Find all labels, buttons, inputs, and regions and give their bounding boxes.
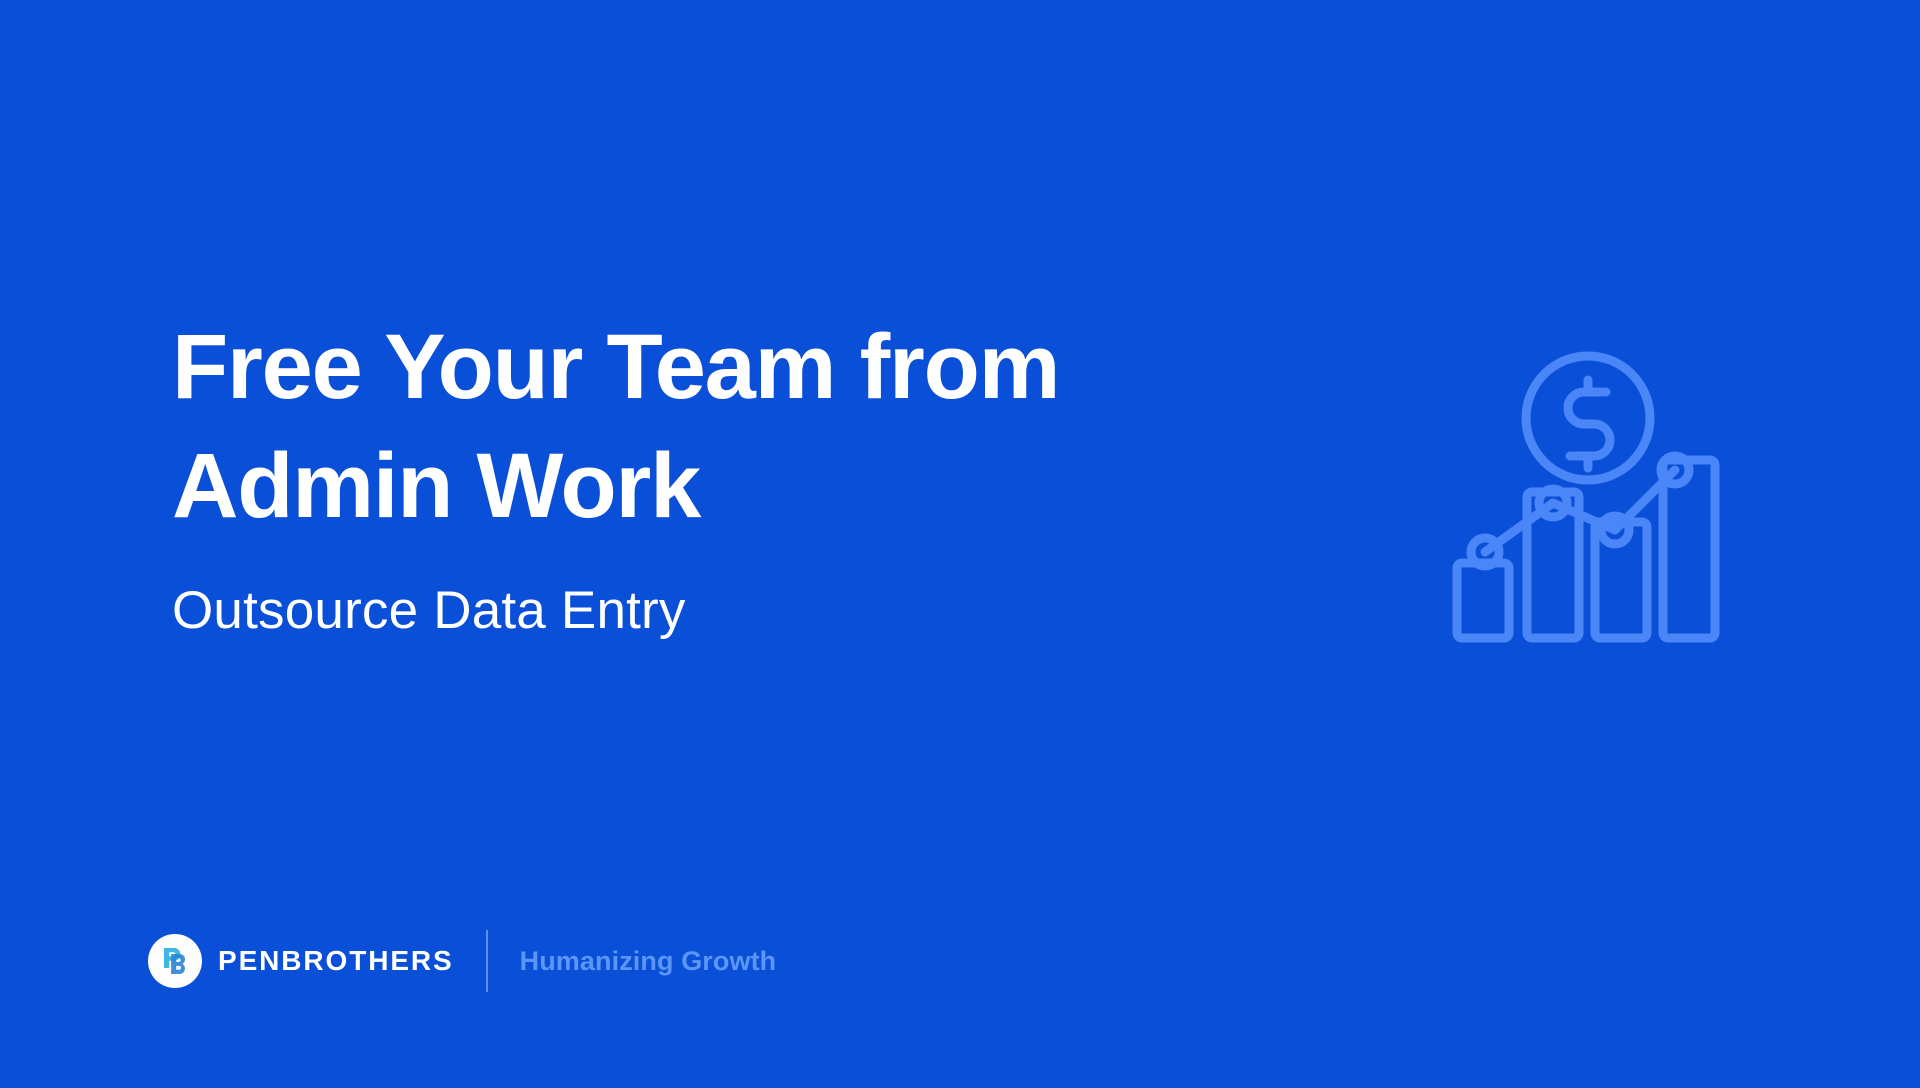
brand-logo[interactable]: PENBROTHERS <box>148 934 454 988</box>
footer-logo-lockup: PENBROTHERS Humanizing Growth <box>148 925 776 997</box>
page-subtitle: Outsource Data Entry <box>172 545 1292 643</box>
page-title: Free Your Team from Admin Work <box>172 308 1292 545</box>
growth-chart-dollar-icon <box>1443 340 1723 650</box>
slide-canvas: Free Your Team from Admin Work Outsource… <box>0 0 1920 1088</box>
chart-bar-1 <box>1457 563 1509 638</box>
lockup-divider <box>486 930 488 992</box>
brand-name: PENBROTHERS <box>218 947 454 975</box>
brand-tagline: Humanizing Growth <box>520 948 777 975</box>
hero-text-block: Free Your Team from Admin Work Outsource… <box>172 308 1292 643</box>
dollar-glyph-s <box>1568 392 1610 456</box>
penbrothers-monogram-icon <box>148 934 202 988</box>
